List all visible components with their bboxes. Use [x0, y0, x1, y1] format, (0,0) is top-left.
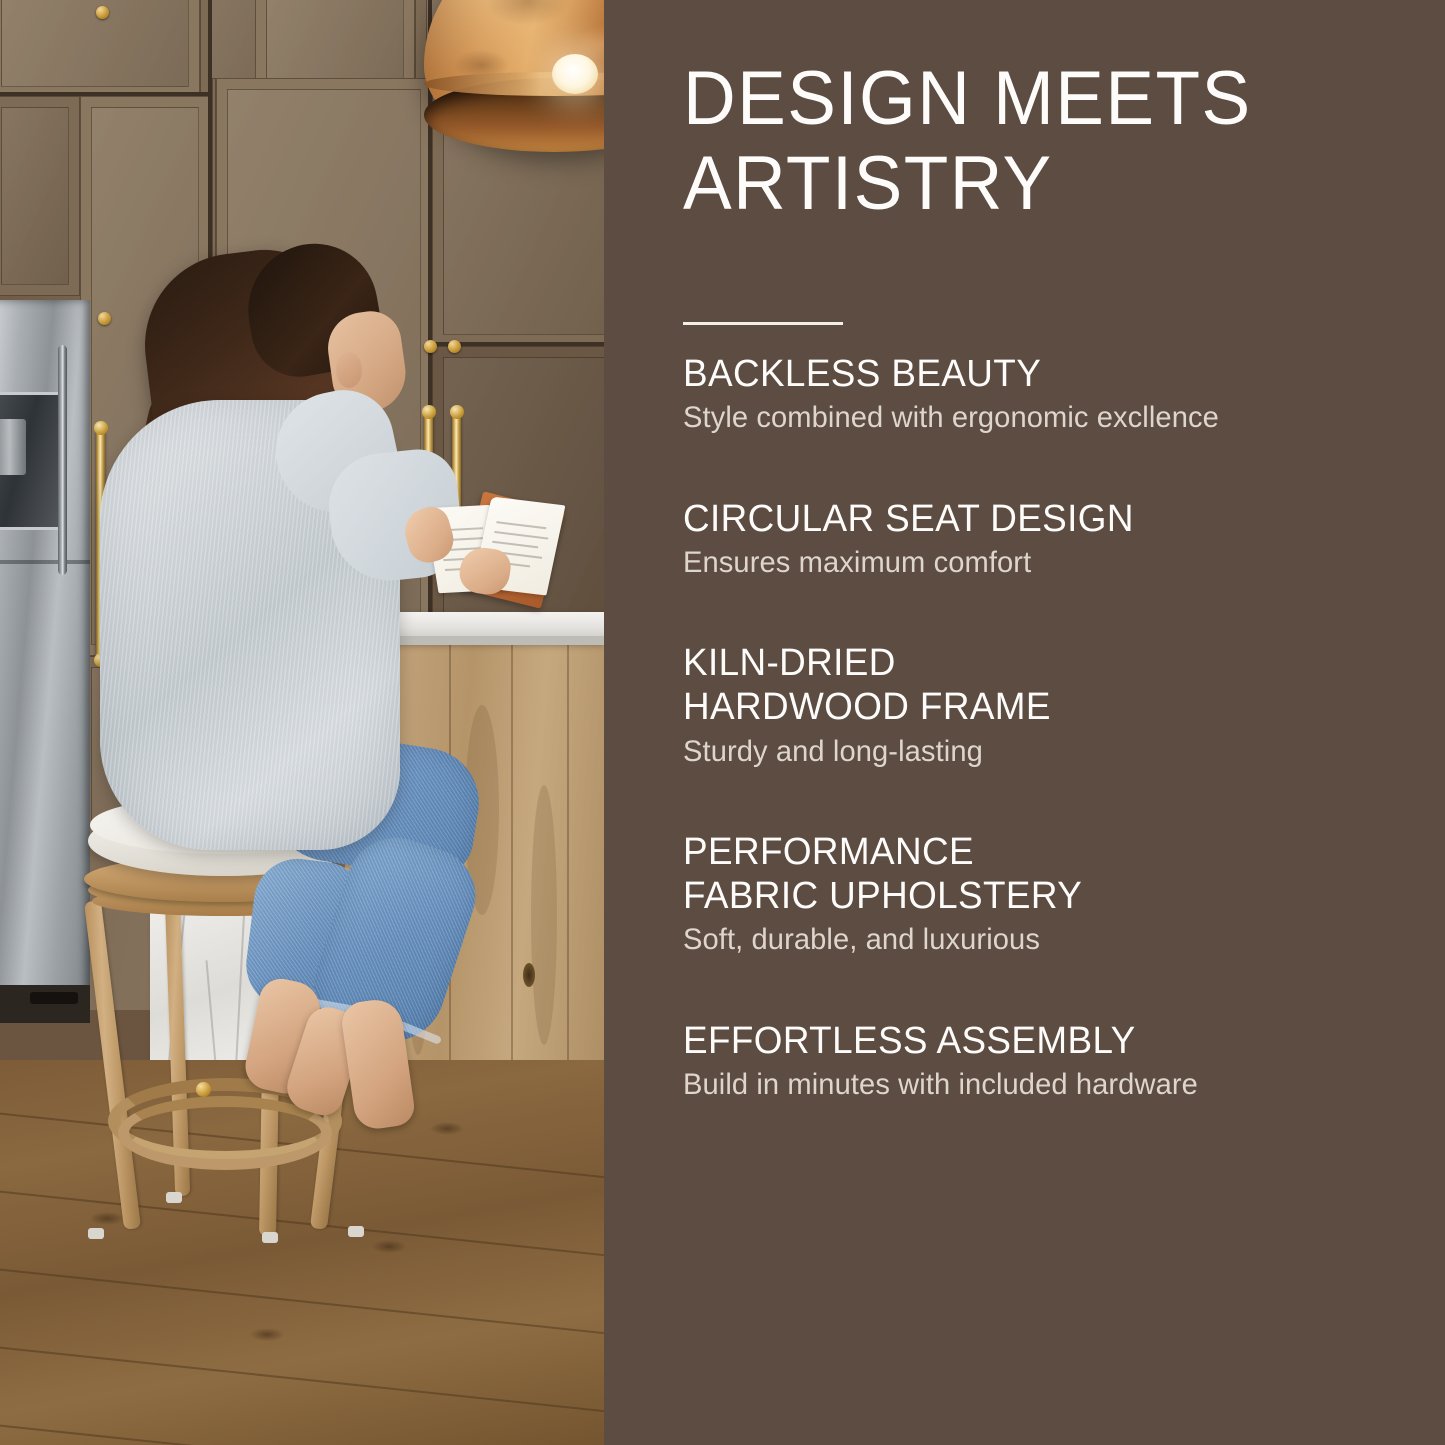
stool-foot-cap: [348, 1226, 364, 1237]
headline-line-2: ARTISTRY: [683, 141, 1053, 226]
water-dispenser: [0, 392, 65, 530]
stool-foot-cap: [88, 1228, 104, 1239]
feature-item-performance-fabric-upholstery: PERFORMANCE FABRIC UPHOLSTERY Soft, dura…: [683, 830, 1423, 959]
feature-title: BACKLESS BEAUTY: [683, 352, 1401, 396]
page-title: DESIGN MEETS ARTISTRY: [683, 56, 1384, 226]
product-feature-graphic: DESIGN MEETS ARTISTRY BACKLESS BEAUTY St…: [0, 0, 1445, 1445]
refrigerator-foot: [30, 992, 78, 1004]
light-bulb-icon: [552, 54, 598, 94]
feature-title-line: FABRIC UPHOLSTERY: [683, 874, 1401, 918]
feature-list: BACKLESS BEAUTY Style combined with ergo…: [683, 352, 1423, 1104]
feature-title-line: CIRCULAR SEAT DESIGN: [683, 497, 1401, 541]
stool-foot-cap: [166, 1192, 182, 1203]
cabinet-gap: [0, 92, 210, 96]
brass-knob-icon: [98, 312, 111, 325]
brass-knob-icon: [96, 6, 109, 19]
title-divider: [683, 322, 843, 325]
brass-accent-icon: [196, 1082, 211, 1097]
feature-title-line: BACKLESS BEAUTY: [683, 352, 1401, 396]
feature-item-effortless-assembly: EFFORTLESS ASSEMBLY Build in minutes wit…: [683, 1019, 1423, 1104]
lifestyle-photo: [0, 0, 604, 1445]
feature-title-line: EFFORTLESS ASSEMBLY: [683, 1019, 1401, 1063]
feature-item-backless-beauty: BACKLESS BEAUTY Style combined with ergo…: [683, 352, 1423, 437]
feature-item-kiln-dried-hardwood-frame: KILN-DRIED HARDWOOD FRAME Sturdy and lon…: [683, 641, 1423, 770]
feature-subtitle: Sturdy and long-lasting: [683, 734, 1401, 771]
feature-subtitle: Soft, durable, and luxurious: [683, 922, 1401, 959]
feature-title: KILN-DRIED HARDWOOD FRAME: [683, 641, 1401, 729]
refrigerator-base: [0, 985, 90, 1023]
refrigerator-seam: [0, 560, 90, 564]
ear: [336, 352, 362, 388]
brass-knob-icon: [424, 340, 437, 353]
feature-title-line: PERFORMANCE: [683, 830, 1401, 874]
feature-title: PERFORMANCE FABRIC UPHOLSTERY: [683, 830, 1401, 918]
headline-line-1: DESIGN MEETS: [683, 56, 1252, 141]
feature-title-line: KILN-DRIED: [683, 641, 1401, 685]
feature-subtitle: Build in minutes with included hardware: [683, 1067, 1401, 1104]
stool-foot-cap: [262, 1232, 278, 1243]
refrigerator-handle: [58, 345, 67, 575]
feature-subtitle: Ensures maximum comfort: [683, 545, 1401, 582]
feature-item-circular-seat-design: CIRCULAR SEAT DESIGN Ensures maximum com…: [683, 497, 1423, 582]
feature-subtitle: Style combined with ergonomic excllence: [683, 400, 1401, 437]
feature-title: CIRCULAR SEAT DESIGN: [683, 497, 1401, 541]
feature-title: EFFORTLESS ASSEMBLY: [683, 1019, 1401, 1063]
feature-title-line: HARDWOOD FRAME: [683, 685, 1401, 729]
brass-knob-icon: [448, 340, 461, 353]
cabinet-door: [0, 96, 80, 296]
feature-text-panel: DESIGN MEETS ARTISTRY BACKLESS BEAUTY St…: [604, 0, 1445, 1445]
